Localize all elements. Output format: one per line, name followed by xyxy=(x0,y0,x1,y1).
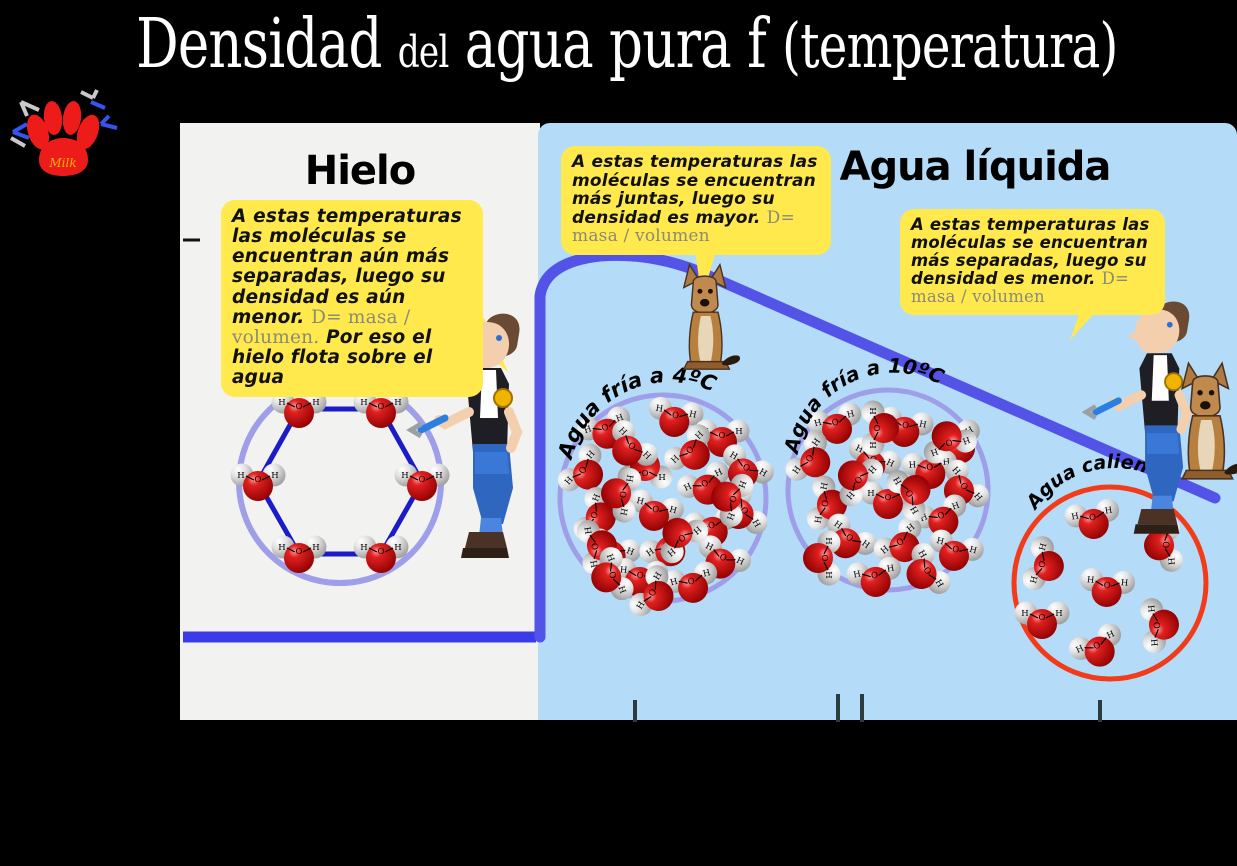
infographic-canvas: Densidad del agua pura f (temperatura) xyxy=(0,0,1237,866)
speech-bubble-ice: A estas temperaturas las moléculas se en… xyxy=(221,200,483,397)
page-title: Densidad del agua pura f (temperatura) xyxy=(136,2,1101,92)
speech-bubble-right: A estas temperaturas las moléculas se en… xyxy=(900,209,1165,315)
title-part1: Densidad xyxy=(136,5,382,84)
speech-bubble-middle: A estas temperaturas las moléculas se en… xyxy=(561,146,831,255)
ice-panel-heading: Hielo xyxy=(180,148,540,194)
title-part4: (temperatura) xyxy=(782,9,1118,82)
paw-print-logo: Milk xyxy=(5,72,125,182)
logo-text: Milk xyxy=(48,156,76,170)
title-part2: del xyxy=(398,27,449,78)
title-part3: agua pura f xyxy=(465,5,766,84)
